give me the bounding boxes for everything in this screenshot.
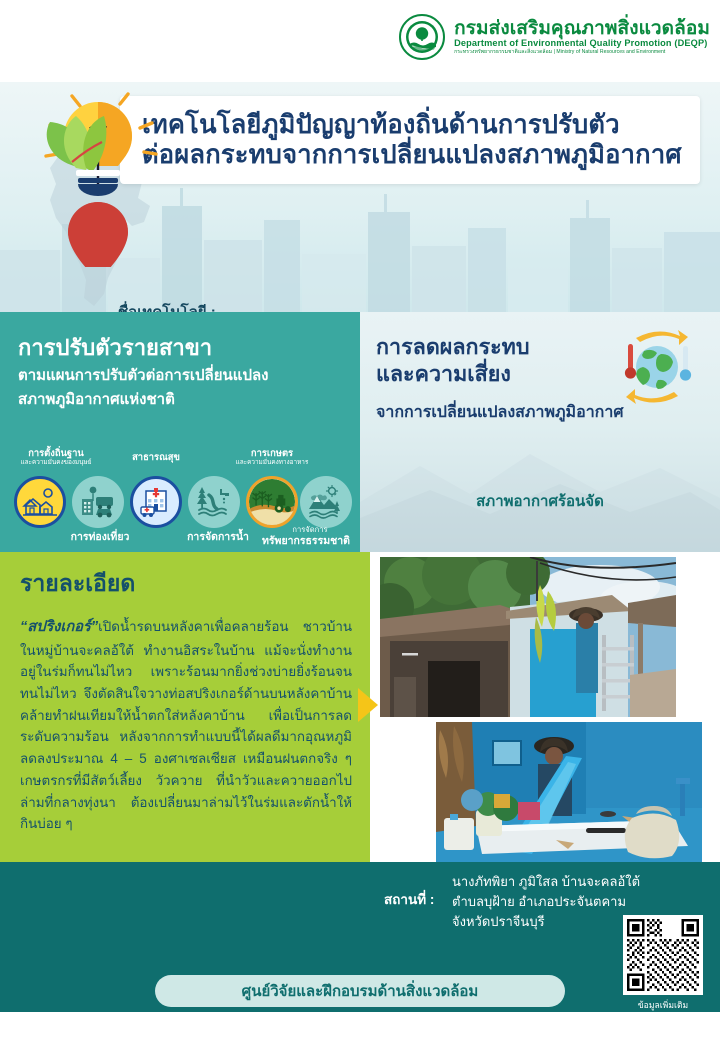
header: กรมส่งเสริมคุณภาพสิ่งแวดล้อม Department … xyxy=(0,0,720,82)
location-line-3: จังหวัดปราจีนบุรี xyxy=(452,912,640,932)
sector-label-health-line1: สาธารณสุข xyxy=(106,452,206,463)
deqp-text-block: กรมส่งเสริมคุณภาพสิ่งแวดล้อม Department … xyxy=(454,19,710,56)
mitigation-title: การลดผลกระทบ และความเสี่ยง xyxy=(376,334,529,388)
sector-label-health: สาธารณสุข xyxy=(106,452,206,463)
photo-water-tank xyxy=(436,722,702,862)
deqp-logo: กรมส่งเสริมคุณภาพสิ่งแวดล้อม Department … xyxy=(399,14,710,60)
footer-center-pill: ศูนย์วิจัยและฝึกอบรมด้านสิ่งแวดล้อม xyxy=(155,975,565,1007)
sector-panel-subtitle-1: ตามแผนการปรับตัวต่อการเปลี่ยนแปลง xyxy=(18,365,344,387)
lightbulb-leaf-map-pin-icon xyxy=(28,92,168,267)
sector-icon-agriculture[interactable] xyxy=(246,476,298,528)
location-lines: นางภัทพิยา ภูมิใสล บ้านจะคลอ้ใต้ ตำบลบุฝ… xyxy=(452,872,640,932)
sector-label-tourism: การท่องเที่ยว xyxy=(48,532,152,544)
org-name-th: กรมส่งเสริมคุณภาพสิ่งแวดล้อม xyxy=(454,19,710,40)
location-label: สถานที่ : xyxy=(384,888,434,910)
village-houses-icon xyxy=(14,476,66,528)
mountain-forest-icon xyxy=(300,476,352,528)
details-title: รายละเอียด xyxy=(20,566,352,602)
sector-label-natural-resources: ทรัพยากรธรรมชาติ xyxy=(254,536,358,548)
details-lead: “สปริงเกอร์” xyxy=(20,619,98,635)
mitigation-note: สภาพอากาศร้อนจัด xyxy=(360,489,720,513)
sector-label-agriculture-line1: การเกษตร xyxy=(218,448,326,459)
farm-tractor-crops-icon xyxy=(246,476,298,528)
mitigation-title-line-2: และความเสี่ยง xyxy=(376,361,529,388)
globe-thermometer-icon xyxy=(606,326,698,408)
sector-panel-title: การปรับตัวรายสาขา xyxy=(18,334,344,362)
river-faucet-icon xyxy=(188,476,240,528)
poster-root: กรมส่งเสริมคุณภาพสิ่งแวดล้อม Department … xyxy=(0,0,720,1040)
arrow-right-icon xyxy=(358,688,378,722)
teal-left-fill xyxy=(0,862,370,940)
org-name-en: Department of Environmental Quality Prom… xyxy=(454,39,710,49)
sector-icon-health[interactable] xyxy=(130,476,182,528)
main-title-line-1: เทคโนโลยีภูมิปัญญาท้องถิ่นด้านการปรับตัว xyxy=(142,110,708,140)
qr-code-icon[interactable] xyxy=(623,915,703,995)
mitigation-subtitle: จากการเปลี่ยนแปลงสภาพภูมิอากาศ xyxy=(376,400,624,425)
sector-icon-natural-resources[interactable] xyxy=(300,476,352,528)
sector-label-settlement: การตั้งถิ่นฐาน และความมั่นคงของมนุษย์ xyxy=(2,448,110,466)
tourism-transport-icon xyxy=(72,476,124,528)
title-band: เทคโนโลยีภูมิปัญญาท้องถิ่นด้านการปรับตัว… xyxy=(0,82,720,312)
sector-label-natural-resources-line1: การจัดการ xyxy=(262,526,358,535)
qr-section: ข้อมูลเพิ่มเติม xyxy=(620,915,706,1012)
details-body-text: เปิดน้ำรดบนหลังคาเพื่อคลายร้อน ชาวบ้านใน… xyxy=(20,619,352,831)
sector-icon-tourism[interactable] xyxy=(72,476,124,528)
sector-label-agriculture: การเกษตร และความมั่นคงทางอาหาร xyxy=(218,448,326,466)
sector-panel-subtitle-2: สภาพภูมิอากาศแห่งชาติ xyxy=(18,389,344,411)
location-line-1: นางภัทพิยา ภูมิใสล บ้านจะคลอ้ใต้ xyxy=(452,872,640,892)
sector-label-settlement-line2: และความมั่นคงของมนุษย์ xyxy=(2,459,110,466)
sector-label-settlement-line1: การตั้งถิ่นฐาน xyxy=(2,448,110,459)
hospital-ambulance-icon xyxy=(130,476,182,528)
tree-water-seal-icon xyxy=(399,14,445,60)
org-ministry-line: กระทรวงทรัพยากรธรรมชาติและสิ่งแวดล้อม | … xyxy=(454,50,710,56)
qr-caption: ข้อมูลเพิ่มเติม xyxy=(620,998,706,1012)
sector-icon-water[interactable] xyxy=(188,476,240,528)
location-line-2: ตำบลบุฝ้าย อำเภอประจันตคาม xyxy=(452,892,640,912)
footer-center-name: ศูนย์วิจัยและฝึกอบรมด้านสิ่งแวดล้อม xyxy=(242,979,479,1003)
main-title-line-2: ต่อผลกระทบจากการเปลี่ยนแปลงสภาพภูมิอากาศ xyxy=(142,140,708,170)
details-body: “สปริงเกอร์”เปิดน้ำรดบนหลังคาเพื่อคลายร้… xyxy=(20,616,352,835)
photo-roof-sprinkler xyxy=(380,557,676,717)
mitigation-title-line-1: การลดผลกระทบ xyxy=(376,334,529,361)
mitigation-panel: การลดผลกระทบ และความเสี่ยง จากการเปลี่ยน… xyxy=(360,312,720,552)
sector-icon-row: การตั้งถิ่นฐาน และความมั่นคงของมนุษย์ xyxy=(0,448,360,552)
sector-icon-settlement[interactable] xyxy=(14,476,66,528)
sector-label-agriculture-line2: และความมั่นคงทางอาหาร xyxy=(218,459,326,466)
main-title: เทคโนโลยีภูมิปัญญาท้องถิ่นด้านการปรับตัว… xyxy=(112,90,708,190)
technology-label: ชื่อเทคโนโลยี : xyxy=(118,300,216,312)
